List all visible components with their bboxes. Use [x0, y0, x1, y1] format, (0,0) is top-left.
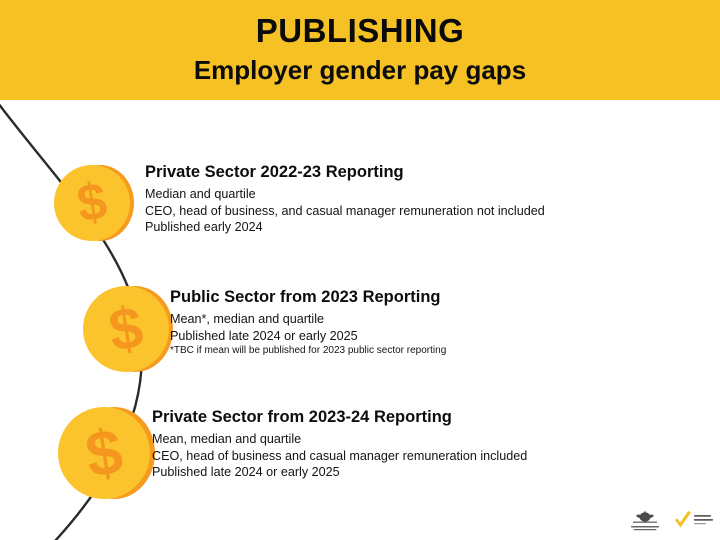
timeline-item-line: CEO, head of business, and casual manage… — [145, 203, 545, 220]
timeline-item-heading: Private Sector 2022-23 Reporting — [145, 162, 545, 183]
dollar-coin-icon: $ — [50, 398, 160, 508]
timeline-item-heading: Public Sector from 2023 Reporting — [170, 287, 446, 308]
timeline-item-line: Published late 2024 or early 2025 — [170, 328, 446, 345]
page-title: PUBLISHING — [0, 12, 720, 50]
timeline-item-line: CEO, head of business and casual manager… — [152, 448, 527, 465]
header-banner: PUBLISHING Employer gender pay gaps — [0, 0, 720, 100]
timeline-item-line: Median and quartile — [145, 186, 545, 203]
timeline-item-public-2023: Public Sector from 2023 Reporting Mean*,… — [170, 287, 446, 358]
dollar-coin-icon: $ — [76, 278, 178, 380]
timeline-item-footnote: *TBC if mean will be published for 2023 … — [170, 344, 446, 358]
slide-canvas: PUBLISHING Employer gender pay gaps $ $ … — [0, 0, 720, 540]
timeline-item-line: Mean*, median and quartile — [170, 311, 446, 328]
timeline-item-line: Published late 2024 or early 2025 — [152, 464, 527, 481]
timeline-item-line: Published early 2024 — [145, 219, 545, 236]
timeline-item-private-2022-23: Private Sector 2022-23 Reporting Median … — [145, 162, 545, 236]
wgea-checkmark-logo — [672, 506, 716, 536]
australian-government-crest-logo — [624, 506, 666, 536]
footer-logo-group — [624, 506, 716, 536]
dollar-coin-icon: $ — [48, 158, 138, 248]
page-subtitle: Employer gender pay gaps — [0, 54, 720, 86]
timeline-item-private-2023-24: Private Sector from 2023-24 Reporting Me… — [152, 407, 527, 481]
timeline-item-line: Mean, median and quartile — [152, 431, 527, 448]
timeline-item-heading: Private Sector from 2023-24 Reporting — [152, 407, 527, 428]
